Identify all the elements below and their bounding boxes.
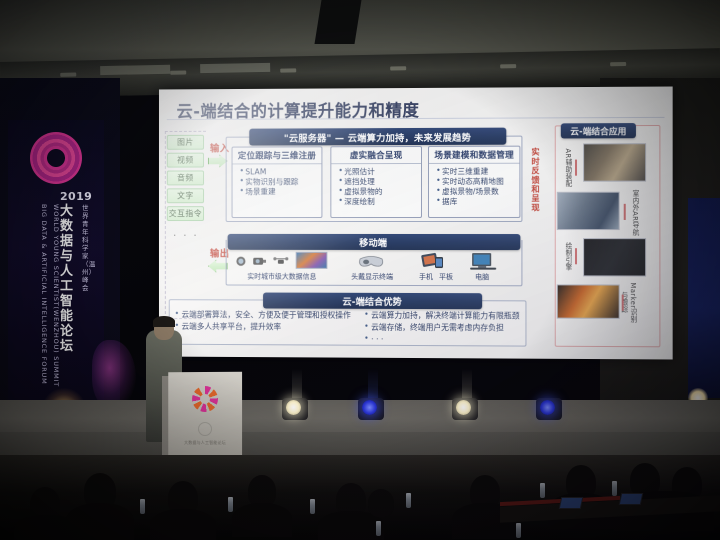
feature-item-cont: 据库 [436, 197, 516, 207]
audience-shoulders [232, 503, 292, 537]
feature-item: 遮挡处理 [338, 177, 418, 187]
feature-item: 虚拟景物/场景数 [436, 187, 516, 197]
advantages-left-list: 云端部署算法，安全、方便及便于管理和授权操作 云端多人共享平台，提升效率 [175, 309, 363, 334]
projection-screen: 云-端结合的计算提升能力和精度 图片 视频 音频 文字 交互指令 · · · 输… [159, 87, 673, 360]
device-icon-cctv [251, 256, 267, 268]
drone-icon [273, 256, 289, 267]
advantage-item: 云端存储，终端用户无需考虑内存负担 [364, 322, 526, 335]
application-label-navigation: 室内外AR导航 [628, 188, 639, 238]
advantage-item: 云端部署算法，安全、方便及便于管理和授权操作 [175, 309, 363, 322]
application-label-render: 绘制引擎 [561, 240, 572, 272]
water-bottle [612, 481, 617, 496]
label-tick [624, 204, 626, 220]
label-tick [575, 160, 577, 176]
stage-light-white-1 [282, 398, 308, 420]
input-chip-video: 视频 [167, 153, 204, 168]
marker-tracking-photo [557, 284, 620, 318]
ar-navigation-photo [557, 192, 620, 230]
device-label-tablet: 平板 [438, 272, 454, 282]
desktop-icon [469, 252, 497, 270]
audience-head [368, 489, 394, 517]
podium: 大数据与人工智能论坛 [168, 372, 242, 464]
application-label-marker: Marker识别与跟踪 [626, 281, 637, 325]
input-chip-image: 图片 [167, 135, 204, 150]
feature-heading: 场景建模和数据管理 [429, 147, 519, 164]
device-label-vr: 头戴显示终端 [346, 272, 398, 282]
feature-heading: 虚实融合呈现 [331, 147, 421, 164]
device-label-city: 实时城市级大数据信息 [230, 272, 335, 282]
summit-pinwheel-logo [192, 386, 218, 412]
feature-item: 光照估计 [338, 167, 418, 177]
water-bottle [376, 521, 381, 536]
water-bottle [228, 497, 233, 512]
device-thumb-city [295, 252, 329, 270]
camera-icon [234, 256, 247, 267]
stage-light-blue-2 [536, 398, 562, 420]
feature-box-scene: 场景建模和数据管理 实时三维重建 实时动态高精地图 虚拟景物/场景数 据库 [428, 146, 520, 218]
stage-light-blue-1 [358, 398, 384, 420]
banner-subtitle-en: BIG DATA & ARTIFICIAL INTELLIGENCE FORUM [38, 204, 48, 385]
city-data-thumbnail [296, 252, 328, 269]
speaker-hair [153, 316, 175, 327]
feature-item: 实时动态高精地图 [436, 177, 516, 187]
laptop [559, 497, 584, 509]
device-icon-drone [273, 256, 289, 268]
water-bottle [140, 499, 145, 514]
conference-photo-scene: 2019 大数据与人工智能论坛 世界青年科学家（温州）峰会 WORLD YOUN… [0, 0, 720, 540]
advantage-item: 云端多人共享平台，提升效率 [175, 321, 363, 334]
feature-item: 实物识别与跟踪 [239, 177, 318, 187]
summit-flower-logo [30, 132, 82, 184]
banner-year: 2019 [60, 190, 92, 203]
audience-shoulders [150, 509, 216, 540]
application-label-assembly: AR辅助装配 [561, 145, 572, 189]
advantage-item: · · · [364, 334, 526, 347]
feature-item: 场景重建 [239, 187, 318, 197]
ceiling-vent [315, 0, 362, 44]
water-bottle [540, 483, 545, 498]
blue-wall-panel [688, 198, 720, 398]
device-label-phone: 手机 [418, 272, 434, 282]
label-tick [622, 295, 624, 311]
input-chip-audio: 音频 [167, 170, 204, 185]
input-chip-text: 文字 [167, 188, 204, 203]
laptop [619, 493, 644, 505]
input-column: 图片 视频 音频 文字 交互指令 · · · [165, 131, 206, 319]
label-tick [575, 248, 577, 264]
water-bottle [310, 499, 315, 514]
advantage-item: 云端算力加持，解决终端计算能力有限瓶颈 [364, 310, 526, 323]
event-banner: 2019 大数据与人工智能论坛 世界青年科学家（温州）峰会 WORLD YOUN… [8, 120, 104, 440]
feature-item: SLAM [239, 167, 318, 177]
advantages-right-list: 云端算力加持，解决终端计算能力有限瓶颈 云端存储，终端用户无需考虑内存负担 · … [364, 310, 526, 347]
mobile-section-header: 移动端 [228, 234, 521, 250]
banner-title-en: WORLD YOUNG SCIENTIST(WENZHOU) SUMMIT [50, 204, 60, 387]
feature-box-tracking: 定位跟踪与三维注册 SLAM 实物识别与跟踪 场景重建 [232, 146, 323, 218]
vr-headset-icon [357, 252, 385, 270]
render-engine-photo [583, 238, 646, 276]
applications-header: 云-端结合应用 [561, 123, 636, 138]
feature-box-fusion: 虚实融合呈现 光照估计 遮挡处理 虚拟景物的 深度绘制 [330, 146, 422, 218]
device-icon-camera [234, 256, 248, 268]
realtime-feedback-label: 实时反馈和呈现 [528, 138, 541, 222]
podium-secondary-mark [198, 422, 212, 436]
ar-assembly-photo [583, 143, 646, 181]
cloud-server-header: "云服务器" — 云端算力加持，未来发展趋势 [249, 128, 506, 146]
input-chip-interaction: 交互指令 [167, 206, 204, 221]
device-icon-desktop [468, 252, 498, 271]
feature-item-cont: 深度绘制 [338, 197, 418, 207]
presentation-slide: 云-端结合的计算提升能力和精度 图片 视频 音频 文字 交互指令 · · · 输… [159, 87, 673, 360]
podium-text: 大数据与人工智能论坛 [176, 440, 234, 446]
input-more-dots: · · · [166, 231, 206, 242]
stage-light-white-2 [452, 398, 478, 420]
banner-subtitle-cn: 世界青年科学家（温州）峰会 [82, 204, 95, 292]
feature-item: 实时三维重建 [436, 167, 516, 177]
audience-area [0, 455, 720, 540]
device-label-desktop: 电脑 [466, 272, 498, 282]
phone-tablet-icon [421, 252, 445, 270]
feature-item: 虚拟景物的 [338, 187, 418, 197]
banner-title-cn: 大数据与人工智能论坛 [60, 204, 82, 354]
advantages-header: 云-端结合优势 [263, 293, 482, 310]
device-icon-phone [420, 252, 446, 271]
water-bottle [406, 493, 411, 508]
audience-shoulders [66, 503, 134, 540]
feature-heading: 定位跟踪与三维注册 [233, 147, 322, 164]
cctv-icon [252, 256, 267, 267]
water-bottle [516, 523, 521, 538]
device-icon-vr [356, 252, 386, 271]
